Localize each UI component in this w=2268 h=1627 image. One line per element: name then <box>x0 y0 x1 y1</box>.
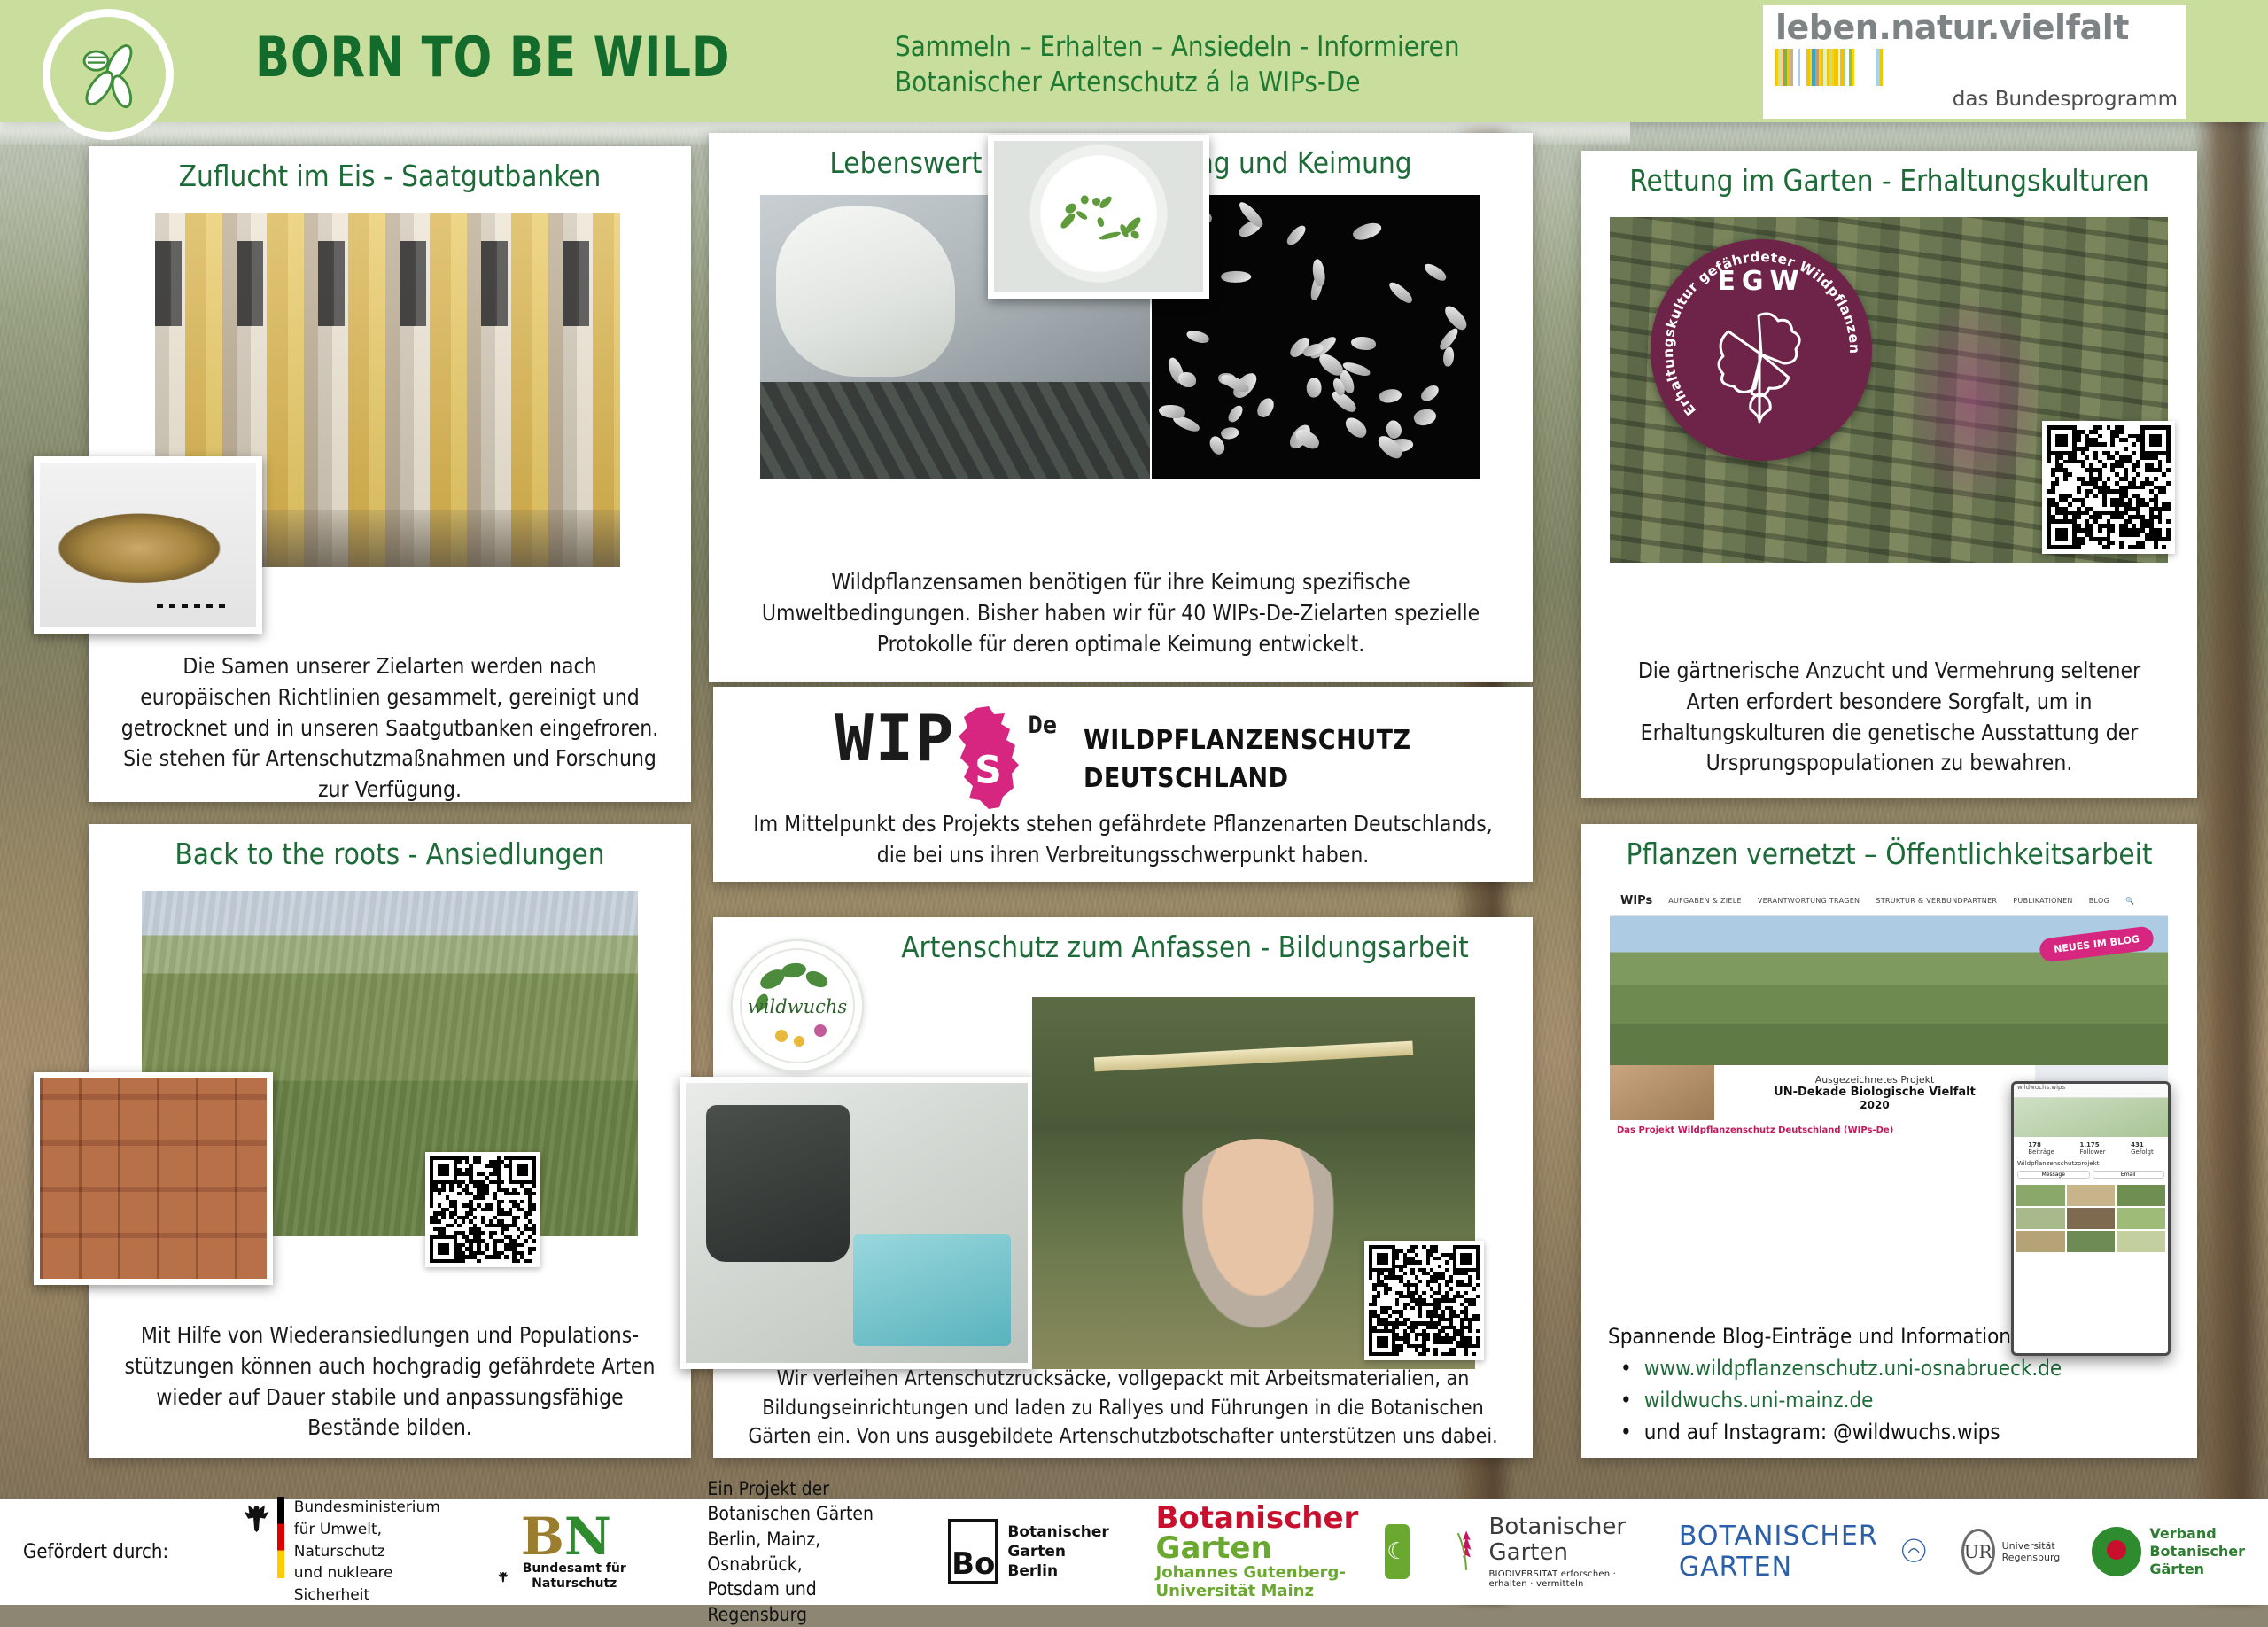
bundesprogramm-footer: das Bundesprogramm <box>1775 88 2178 111</box>
phone-post-thumb[interactable] <box>2067 1185 2116 1206</box>
partner-verband-botanischer-gaerten: Verband Botanischer Gärten <box>2092 1525 2245 1578</box>
phone-post-thumb[interactable] <box>2016 1185 2065 1206</box>
phone-post-thumb[interactable] <box>2117 1208 2165 1229</box>
phone-stat: 1.175Follower <box>2079 1141 2105 1156</box>
seed-shape <box>1378 386 1402 405</box>
seedling-shape <box>1097 194 1113 210</box>
qr-code-garden[interactable] <box>2042 421 2175 554</box>
potsdam-text: BOTANISCHER GARTEN <box>1679 1521 1891 1583</box>
seed-shape <box>1418 382 1441 404</box>
mainz-line-1: Botanischer Garten <box>1156 1503 1374 1563</box>
phone-stat: 431Gefolgt <box>2131 1141 2154 1156</box>
circle-leaf-icon <box>2092 1527 2141 1576</box>
germany-map-icon: s <box>950 706 1026 813</box>
funded-by-label: Gefördert durch: <box>23 1541 168 1563</box>
bfn-logo: BN Bundesamt für Naturschutz <box>497 1513 634 1592</box>
phone-post-thumb[interactable] <box>2117 1231 2165 1252</box>
qr-code-reintroduction[interactable] <box>425 1152 540 1267</box>
verband-text: Verband Botanischer Gärten <box>2149 1525 2245 1578</box>
card-outreach: Pflanzen vernetzt – Öffentlichkeitsarbei… <box>1581 824 2197 1458</box>
bfn-subtitle: Bundesamt für Naturschutz <box>514 1561 634 1592</box>
phone-post-thumb[interactable] <box>2016 1208 2065 1229</box>
wips-subtitle-line-1: WILDPFLANZENSCHUTZ <box>1084 721 1411 760</box>
seedling-shape <box>1130 229 1141 240</box>
bullet-icon: • <box>1620 1384 1632 1416</box>
osnabrueck-tagline: BIODIVERSITÄT erforschen · erhalten · ve… <box>1488 1569 1639 1589</box>
subtitle-line-1: Sammeln – Erhalten – Ansiedeln - Informi… <box>895 30 1460 66</box>
website-hero-photo: NEUES IM BLOG <box>1610 916 2168 1065</box>
wips-subtitle: WILDPFLANZENSCHUTZ DEUTSCHLAND <box>1084 721 1411 798</box>
seed-leaf-icon <box>66 32 151 117</box>
seed-shape <box>1159 405 1185 419</box>
wips-subtitle-line-2: DEUTSCHLAND <box>1084 759 1411 798</box>
wildwuchs-roundel: wildwuchs <box>731 939 864 1072</box>
seed-shape <box>1226 403 1245 424</box>
seedling-shape <box>1075 209 1088 221</box>
bundesprogramm-logo: leben.natur.vielfalt das Bundesprogramm <box>1763 5 2186 119</box>
phone-post-thumb[interactable] <box>2067 1231 2116 1252</box>
egw-ring-text: Erhaltungskultur gefährdeter Wildpflanze… <box>1651 239 1872 461</box>
bfn-letter-n: N <box>564 1506 611 1567</box>
wips-de-letters: De <box>1028 712 1057 739</box>
poster-footer: Gefördert durch: Bundesministerium für U… <box>0 1499 2268 1605</box>
partner-bg-potsdam: BOTANISCHER GARTEN <box>1679 1521 1928 1583</box>
mainz-line-2: Johannes Gutenberg-Universität Mainz <box>1156 1563 1374 1600</box>
seed-shape <box>1255 395 1277 420</box>
bfn-letter-b: B <box>521 1506 564 1567</box>
award-line-1: Ausgezeichnetes Projekt <box>1815 1074 1935 1086</box>
bgbm-abbr: Bo <box>951 1548 995 1581</box>
outreach-link-3[interactable]: und auf Instagram: @wildwuchs.wips <box>1644 1416 2000 1448</box>
bullet-icon: • <box>1620 1416 1632 1448</box>
seed-shape <box>1342 415 1371 440</box>
card-seedbank-text: Die Samen unserer Zielarten werden nach … <box>89 651 691 806</box>
award-line-2: UN-Dekade Biologische Vielfalt <box>1774 1086 1976 1099</box>
website-award-text: Ausgezeichnetes Projekt UN-Dekade Biolog… <box>1714 1065 2035 1120</box>
website-nav-item[interactable]: BLOG <box>2089 897 2109 905</box>
qr-module <box>2166 545 2171 549</box>
card-garden: Rettung im Garten - Erhaltungskulturen E… <box>1581 151 2197 798</box>
bullet-icon: • <box>1620 1352 1632 1384</box>
seed-shape <box>1285 222 1308 247</box>
card-education: Artenschutz zum Anfassen - Bildungsarbei… <box>713 917 1533 1458</box>
website-nav-item[interactable]: VERANTWORTUNG TRAGEN <box>1758 897 1860 905</box>
osnabrueck-name: Botanischer Garten <box>1488 1514 1639 1565</box>
leaf-mark-icon: ☾ <box>1385 1524 1410 1579</box>
website-navbar: WIPs AUFGABEN & ZIELE VERANTWORTUNG TRAG… <box>1610 886 2168 916</box>
card-reintroduction-text: Mit Hilfe von Wiederansiedlungen und Pop… <box>89 1320 691 1444</box>
federal-eagle-icon <box>497 1566 509 1587</box>
search-icon[interactable]: 🔍 <box>2125 897 2134 905</box>
outreach-link-2[interactable]: wildwuchs.uni-mainz.de <box>1644 1384 1874 1416</box>
phone-stats: 178Beiträge 1.175Follower 431Gefolgt <box>2014 1137 2168 1160</box>
project-partners-text: Ein Projekt der Botanischen Gärten Berli… <box>707 1476 893 1627</box>
bmu-logo: Bundesministerium für Umwelt, Naturschut… <box>241 1497 447 1606</box>
phone-post-thumb[interactable] <box>2117 1185 2165 1206</box>
svg-text:Erhaltungskultur gefährdeter W: Erhaltungskultur gefährdeter Wildpflanze… <box>1660 249 1862 419</box>
seedling-pots-photo <box>34 1072 273 1285</box>
phone-post-thumb[interactable] <box>2016 1231 2065 1252</box>
subtitle-line-2: Botanischer Artenschutz á la WIPs-De <box>895 66 1460 101</box>
bundesprogramm-title: leben.natur.vielfalt <box>1775 11 2178 46</box>
qr-module <box>1476 1352 1480 1356</box>
red-heliconia-icon <box>1452 1517 1480 1586</box>
phone-post-grid[interactable] <box>2014 1182 2168 1255</box>
german-flag-icon <box>277 1497 284 1578</box>
card-outreach-title: Pflanzen vernetzt – Öffentlichkeitsarbei… <box>1581 824 2197 878</box>
qr-code-education[interactable] <box>1364 1241 1484 1360</box>
card-seedbank: Zuflucht im Eis - Saatgutbanken Die Same… <box>89 146 691 802</box>
seed-shape <box>1185 329 1210 345</box>
card-wips-text: Im Mittelpunkt des Projekts stehen gefäh… <box>713 809 1533 871</box>
seed-shape <box>1422 261 1449 283</box>
bfn-mark: BN <box>497 1513 634 1561</box>
website-brand: WIPs <box>1620 894 1652 907</box>
bundesprogramm-color-bars <box>1775 49 2178 86</box>
bmu-text: Bundesministerium für Umwelt, Naturschut… <box>294 1497 448 1606</box>
partner-bgbm-berlin: Bo Botanischer Garten Berlin <box>948 1519 1113 1584</box>
award-year: 2020 <box>1860 1099 1889 1111</box>
website-nav-item[interactable]: PUBLIKATIONEN <box>2013 897 2072 905</box>
phone-profile-header <box>2014 1098 2168 1137</box>
seed-shape <box>1412 406 1439 429</box>
wips-wordmark: WIP s De <box>835 706 1057 813</box>
seedling-shape <box>1099 230 1122 241</box>
phone-handle: wildwuchs.wips <box>2014 1084 2168 1098</box>
partner-bg-mainz: Botanischer Garten Johannes Gutenberg-Un… <box>1156 1503 1410 1600</box>
bgbm-name: Botanischer Garten Berlin <box>1007 1522 1113 1581</box>
phone-post-thumb[interactable] <box>2067 1208 2116 1229</box>
instagram-phone-mockup[interactable]: wildwuchs.wips 178Beiträge 1.175Follower… <box>2011 1081 2171 1356</box>
page-title: BORN TO BE WILD <box>255 25 730 90</box>
bgbm-box-icon: Bo <box>948 1519 998 1584</box>
seed-shape <box>1178 372 1196 388</box>
card-seedbank-title: Zuflucht im Eis - Saatgutbanken <box>89 146 691 200</box>
seed-shape <box>1351 337 1376 350</box>
seed-shape <box>1219 425 1239 441</box>
partner-ur-regensburg: UR Universität Regensburg <box>1961 1529 2073 1575</box>
card-reintroduction-title: Back to the roots - Ansiedlungen <box>89 824 691 878</box>
card-garden-title: Rettung im Garten - Erhaltungskulturen <box>1581 151 2197 205</box>
partner-bg-osnabrueck: Botanischer Garten BIODIVERSITÄT erforsc… <box>1452 1514 1640 1588</box>
ur-text: Universität Regensburg <box>2002 1540 2073 1563</box>
phone-email-button[interactable]: Email <box>2093 1171 2165 1179</box>
federal-eagle-icon <box>241 1497 272 1537</box>
background-tree-trunk-right <box>2193 0 2268 1605</box>
seed-shape <box>1221 270 1252 284</box>
website-blog-badge[interactable]: NEUES IM BLOG <box>2039 925 2155 963</box>
phone-bio: Wildpflanzenschutzprojekt <box>2014 1160 2168 1167</box>
card-wips-logo: WIP s De WILDPFLANZENSCHUTZ DEUTSCHLAND … <box>713 687 1533 882</box>
petri-dish-seedlings-photo <box>988 135 1209 299</box>
color-bar <box>1880 49 1883 86</box>
wildwuchs-label: wildwuchs <box>748 996 848 1017</box>
qr-module <box>532 1259 536 1263</box>
seedling-shape <box>1059 211 1076 230</box>
seed-shape <box>1386 279 1415 305</box>
card-germination-text: Wildpflanzensamen benötigen für ihre Kei… <box>709 567 1533 659</box>
egw-badge: EGW Erhaltungskultur gefährdeter Wildpfl… <box>1651 239 1872 461</box>
card-education-text: Wir verleihen Artenschutzrucksäcke, voll… <box>713 1365 1533 1452</box>
seed-shape <box>1351 219 1383 243</box>
outreach-link-1[interactable]: www.wildpflanzenschutz.uni-osnabrueck.de <box>1644 1352 2062 1384</box>
seedling-shape <box>1080 195 1089 205</box>
phone-message-button[interactable]: Message <box>2017 1171 2090 1179</box>
website-nav-item[interactable]: STRUKTUR & VERBUNDPARTNER <box>1876 897 1997 905</box>
phone-stat: 178Beiträge <box>2028 1141 2054 1156</box>
website-nav-item[interactable]: AUFGABEN & ZIELE <box>1668 897 1742 905</box>
wildwuchs-wreath-icon: wildwuchs <box>735 944 859 1068</box>
website-award-photo <box>1610 1065 1714 1120</box>
seedling-shape <box>1097 216 1106 227</box>
university-seal-icon <box>1900 1527 1927 1576</box>
seed-shape <box>1443 346 1454 367</box>
wips-letters: WIP <box>835 706 955 770</box>
wips-de-logo: WIP s De WILDPFLANZENSCHUTZ DEUTSCHLAND <box>713 687 1533 818</box>
seed-shape <box>1305 377 1324 399</box>
seed-leaf-logo <box>43 9 174 140</box>
card-garden-text: Die gärtnerische Anzucht und Vermehrung … <box>1581 656 2197 779</box>
artenschutz-backpack-kit-photo <box>680 1077 1034 1369</box>
wips-s-letter: s <box>973 742 1003 791</box>
card-germination: Lebenswert - Qualitätsprüfung und Keimun… <box>709 133 1533 682</box>
poster-subtitle: Sammeln – Erhalten – Ansiedeln - Informi… <box>895 30 1460 100</box>
seed-macro-photo <box>34 456 262 634</box>
card-reintroduction: Back to the roots - Ansiedlungen Mit Hil… <box>89 824 691 1458</box>
ur-mark: UR <box>1961 1529 1995 1575</box>
